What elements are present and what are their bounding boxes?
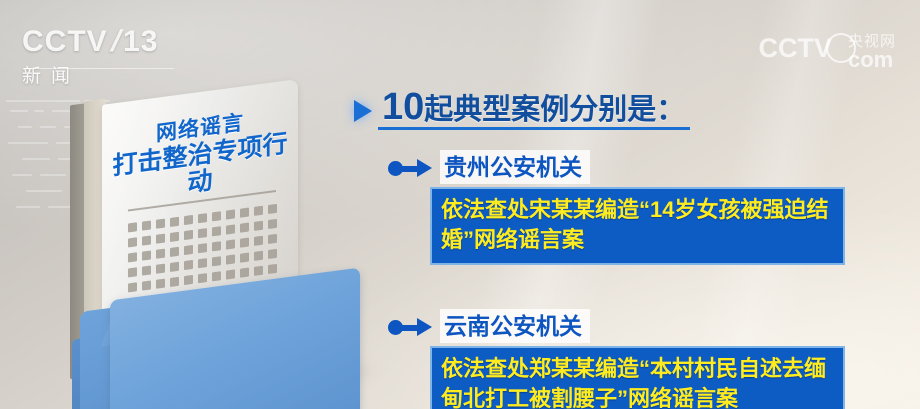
watermark-column: 央视网 com: [848, 33, 896, 72]
card-grid-square: [240, 223, 249, 233]
arrow-head: [417, 159, 432, 177]
texture-line: [10, 110, 28, 112]
card-grid-square: [226, 224, 235, 234]
card-grid-square: [268, 219, 277, 229]
case-list-panel: 10起典型案例分别是： 贵州公安机关 依法查处宋某某编造“14岁女孩被强迫结婚”…: [352, 86, 892, 409]
folder-body: [110, 268, 360, 409]
texture-line: [22, 158, 50, 160]
card-grid-square: [170, 232, 179, 242]
arrow-bullet-icon: [388, 158, 434, 178]
card-grid-square: [156, 234, 165, 244]
card-grid-square: [198, 213, 207, 223]
card-grid-square: [212, 241, 221, 251]
case-description: 依法查处郑某某编造“本村村民自述去缅甸北打工被割腰子”网络谣言案: [430, 346, 845, 409]
channel-logo: CCTV/13 新闻: [22, 26, 192, 88]
texture-line: [12, 174, 32, 176]
card-grid-square: [212, 226, 221, 236]
channel-logo-subtitle: 新闻: [22, 61, 192, 88]
broadcast-screen: CCTV/13 新闻 CCTV 央视网 com 网络谣言 打击整治专项行动: [0, 0, 920, 409]
card-grid-square: [268, 204, 277, 214]
watermark-brand: CCTV: [758, 33, 832, 63]
card-grid-square: [170, 217, 179, 227]
texture-line: [40, 126, 56, 128]
texture-line: [18, 126, 32, 128]
card-grid-square: [226, 239, 235, 249]
arrow-bullet-icon: [388, 317, 434, 337]
card-grid-square: [142, 235, 151, 245]
card-grid-square: [212, 211, 221, 221]
case-organization: 贵州公安机关: [440, 150, 590, 184]
card-grid-square: [254, 236, 263, 246]
card-grid-square: [128, 222, 137, 232]
card-grid-square: [184, 230, 193, 240]
card-grid-square: [254, 221, 263, 231]
arrow-head: [417, 318, 432, 336]
channel-logo-number: 13: [123, 25, 158, 58]
channel-logo-cctv: CCTV: [22, 25, 108, 58]
cctv-com-watermark: CCTV 央视网 com: [758, 28, 896, 70]
case-description: 依法查处宋某某编造“14岁女孩被强迫结婚”网络谣言案: [430, 187, 845, 265]
texture-line: [34, 110, 44, 112]
card-grid-square: [240, 238, 249, 248]
case-item-1: 贵州公安机关 依法查处宋某某编造“14岁女孩被强迫结婚”网络谣言案: [352, 150, 892, 265]
case-organization: 云南公安机关: [440, 309, 590, 343]
channel-logo-mark: CCTV/13: [22, 26, 192, 58]
card-grid-square: [254, 206, 263, 216]
case-count: 10: [382, 86, 424, 128]
card-grid-square: [156, 219, 165, 229]
case-item-2: 云南公安机关 依法查处郑某某编造“本村村民自述去缅甸北打工被割腰子”网络谣言案: [352, 309, 892, 409]
texture-line: [26, 190, 62, 192]
watermark-ring-icon: [826, 33, 856, 63]
case-count-suffix: 起典型案例分别是：: [424, 94, 685, 126]
card-grid-square: [184, 215, 193, 225]
triangle-bullet-icon: [354, 100, 372, 122]
texture-line: [8, 142, 48, 144]
blue-folder: [80, 252, 360, 409]
card-grid-square: [198, 228, 207, 238]
heading-underline: [378, 127, 690, 130]
card-grid-square: [128, 237, 137, 247]
card-grid-square: [142, 220, 151, 230]
texture-line: [16, 206, 40, 208]
campaign-folder-graphic: 网络谣言 打击整治专项行动: [58, 92, 358, 409]
page-title: 10起典型案例分别是：: [382, 86, 685, 131]
card-grid-square: [240, 208, 249, 218]
panel-heading: 10起典型案例分别是：: [352, 86, 892, 134]
channel-logo-rule: [24, 68, 174, 69]
card-grid-square: [268, 234, 277, 244]
card-grid-square: [226, 209, 235, 219]
